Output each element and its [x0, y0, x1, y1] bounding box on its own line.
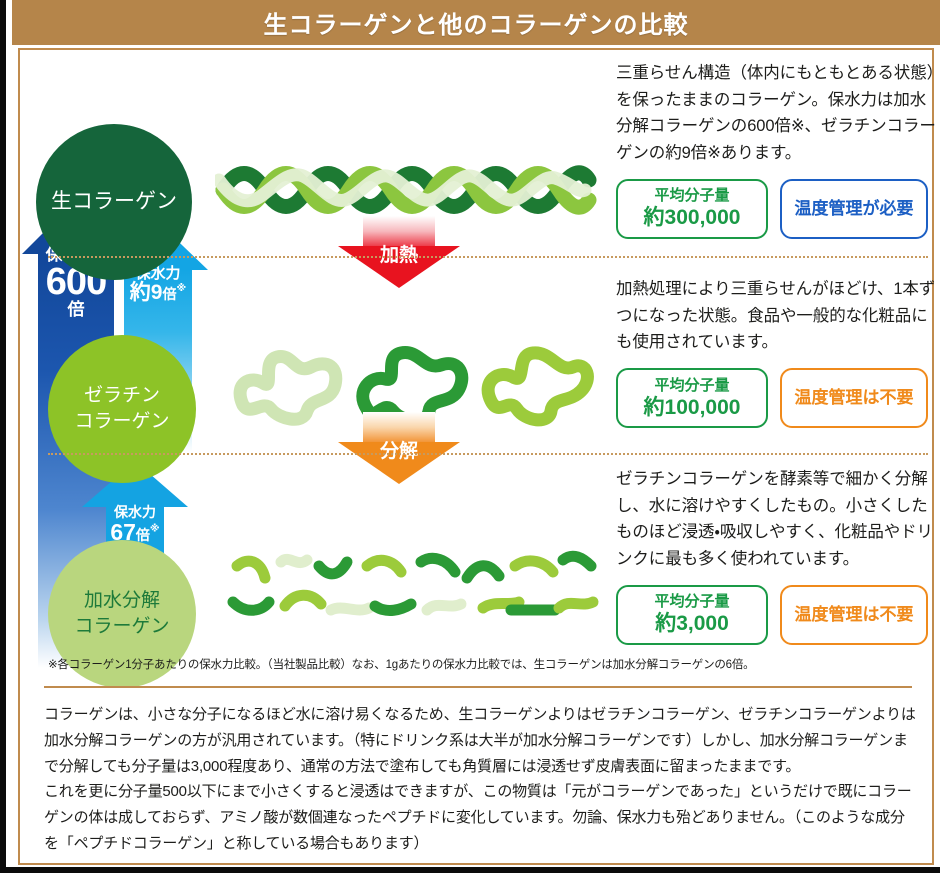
description-text: 加熱処理により三重らせんがほどけ、1本ずつになった状態。食品や一般的な化粧品にも… — [616, 276, 936, 356]
circle-gelatin-line2: コラーゲン — [74, 409, 169, 435]
badge-mw-value: 約300,000 — [644, 205, 741, 230]
arrow-9x-unit: 倍 — [162, 286, 176, 302]
transition-arrow-breakdown: 分解 — [338, 412, 460, 484]
content-frame: 保水力※ 600 倍 保水力 約9倍※ 保水力 — [18, 48, 934, 865]
footnote-divider — [44, 686, 912, 688]
page-header: 生コラーゲンと他のコラーゲンの比較 — [12, 0, 940, 45]
description-row-hydrolyzed: ゼラチンコラーゲンを酵素等で細かく分解し、水に溶けやすくしたもの。小さくしたもの… — [616, 466, 936, 645]
bottom-explanation: コラーゲンは、小さな分子になるほど水に溶け易くなるため、生コラーゲンよりはゼラチ… — [44, 702, 916, 857]
badge-molecular-weight: 平均分子量 約3,000 — [616, 585, 768, 645]
infographic-page: 生コラーゲンと他のコラーゲンの比較 保水力※ 600 倍 保水力 — [0, 0, 940, 873]
bottom-paragraph-1: コラーゲンは、小さな分子になるほど水に溶け易くなるため、生コラーゲンよりはゼラチ… — [44, 702, 916, 779]
description-row-raw: 三重らせん構造（体内にもともとある状態）を保ったままのコラーゲン。保水力は加水分… — [616, 60, 936, 239]
asterisk-mark: ※ — [176, 283, 186, 294]
arrow-9x-value: 約9 — [130, 281, 163, 304]
arrow-67x-caption: 保水力 — [82, 505, 188, 520]
dotted-separator-1 — [48, 256, 928, 258]
circle-hydrolyzed-line2: コラーゲン — [74, 614, 169, 640]
badge-temperature-control: 温度管理は不要 — [780, 368, 928, 428]
arrow-67x-label: 保水力 67倍※ — [82, 505, 188, 544]
illustration-peptide-fragments — [215, 510, 605, 660]
description-text: 三重らせん構造（体内にもともとある状態）を保ったままのコラーゲン。保水力は加水分… — [616, 60, 936, 167]
transition-breakdown-label: 分解 — [338, 442, 460, 461]
circle-hydrolyzed-line1: 加水分解 — [84, 588, 160, 614]
circle-raw-collagen-label: 生コラーゲン — [51, 188, 177, 216]
badge-mw-label: 平均分子量 — [654, 593, 729, 611]
bottom-paragraph-2: これを更に分子量500以下にまで小さくすると浸透はできますが、この物質は「元がコ… — [44, 779, 916, 856]
arrow-67x-unit: 倍 — [136, 527, 150, 543]
badge-group: 平均分子量 約300,000 温度管理が必要 — [616, 179, 936, 239]
asterisk-mark: ※ — [150, 523, 160, 534]
peptide-fragments-svg — [215, 510, 605, 660]
badge-molecular-weight: 平均分子量 約100,000 — [616, 368, 768, 428]
footnote-text: ※各コラーゲン1分子あたりの保水力比較。（当社製品比較）なお、1gあたりの保水力… — [48, 656, 908, 672]
circle-gelatin-line1: ゼラチン — [84, 383, 160, 409]
description-row-gelatin: 加熱処理により三重らせんがほどけ、1本ずつになった状態。食品や一般的な化粧品にも… — [616, 276, 936, 428]
badge-molecular-weight: 平均分子量 約300,000 — [616, 179, 768, 239]
badge-temperature-control: 温度管理が必要 — [780, 179, 928, 239]
badge-mw-value: 約3,000 — [655, 611, 729, 636]
badge-mw-label: 平均分子量 — [654, 187, 729, 205]
page-title: 生コラーゲンと他のコラーゲンの比較 — [264, 5, 689, 40]
badge-temperature-control: 温度管理は不要 — [780, 585, 928, 645]
description-text: ゼラチンコラーゲンを酵素等で細かく分解し、水に溶けやすくしたもの。小さくしたもの… — [616, 466, 936, 573]
circle-gelatin-collagen: ゼラチン コラーゲン — [48, 335, 196, 483]
transition-arrow-heat: 加熱 — [338, 216, 460, 288]
dotted-separator-2 — [48, 453, 928, 455]
badge-mw-value: 約100,000 — [644, 395, 741, 420]
badge-group: 平均分子量 約3,000 温度管理は不要 — [616, 585, 936, 645]
comparison-column: 保水力※ 600 倍 保水力 約9倍※ 保水力 — [20, 50, 225, 670]
badge-group: 平均分子量 約100,000 温度管理は不要 — [616, 368, 936, 428]
badge-mw-label: 平均分子量 — [654, 377, 729, 395]
